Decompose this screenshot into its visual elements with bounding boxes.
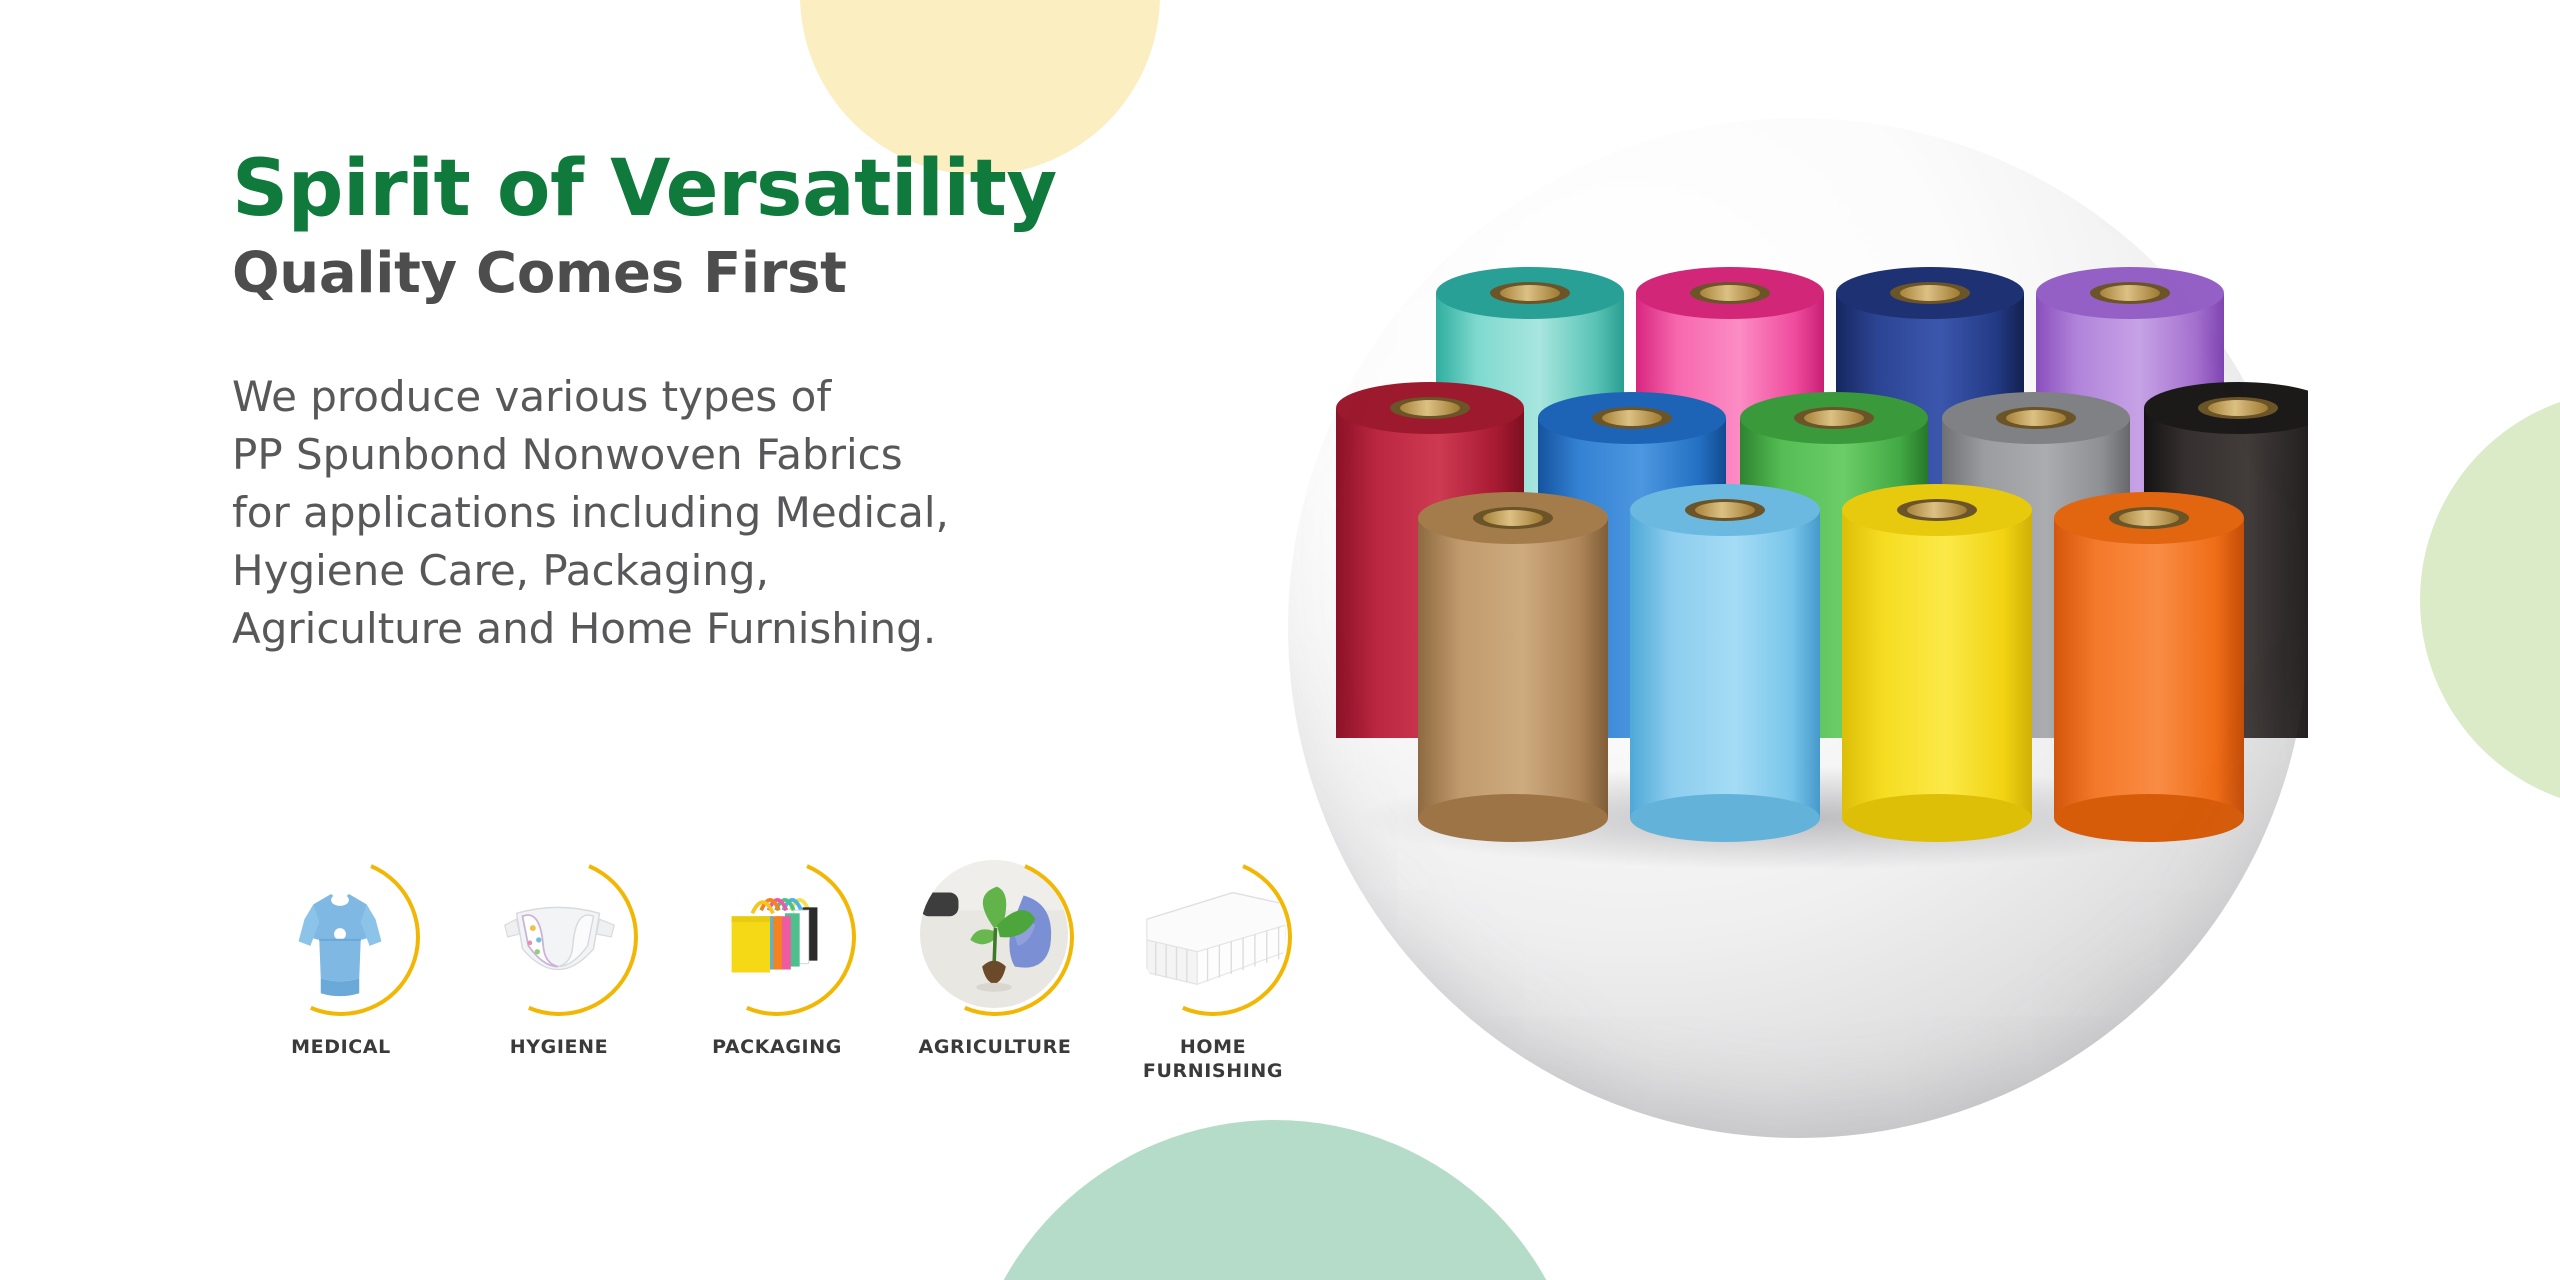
description-line: Agriculture and Home Furnishing. (232, 600, 1172, 658)
icon-circle-agriculture (916, 858, 1074, 1016)
application-item-packaging[interactable]: PACKAGING (668, 858, 886, 1084)
application-icon-strip: MEDICAL (232, 858, 1322, 1084)
product-photo (1288, 118, 2308, 1138)
icon-circle-packaging (698, 858, 856, 1016)
gold-ring-accent (892, 834, 1098, 1040)
application-item-agriculture[interactable]: AGRICULTURE (886, 858, 1104, 1084)
application-label: MEDICAL (291, 1036, 391, 1060)
description-line: Hygiene Care, Packaging, (232, 542, 1172, 600)
application-item-hygiene[interactable]: HYGIENE (450, 858, 668, 1084)
description-line: We produce various types of (232, 368, 1172, 426)
text-column: Spirit of Versatility Quality Comes Firs… (232, 150, 1232, 658)
application-label: HYGIENE (510, 1036, 608, 1060)
icon-circle-hygiene (480, 858, 638, 1016)
application-label: AGRICULTURE (919, 1036, 1072, 1060)
gold-ring-accent (674, 834, 880, 1040)
application-label: PACKAGING (712, 1036, 842, 1060)
promo-banner: Spirit of Versatility Quality Comes Firs… (0, 0, 2560, 1280)
decorative-circle-green-right (2420, 390, 2560, 810)
gold-ring-accent (238, 834, 444, 1040)
decorative-circle-green-bottom (965, 1120, 1585, 1280)
page-subtitle: Quality Comes First (232, 242, 1232, 306)
application-item-medical[interactable]: MEDICAL (232, 858, 450, 1084)
icon-circle-medical (262, 858, 420, 1016)
gold-ring-accent (1110, 834, 1316, 1040)
description-line: PP Spunbond Nonwoven Fabrics (232, 426, 1172, 484)
product-backdrop-shading (1288, 118, 2308, 1138)
description-line: for applications including Medical, (232, 484, 1172, 542)
description-paragraph: We produce various types of PP Spunbond … (232, 368, 1172, 658)
gold-ring-accent (456, 834, 662, 1040)
icon-circle-home-furnishing (1134, 858, 1292, 1016)
page-title: Spirit of Versatility (232, 150, 1232, 228)
application-label: HOME FURNISHING (1143, 1036, 1283, 1084)
